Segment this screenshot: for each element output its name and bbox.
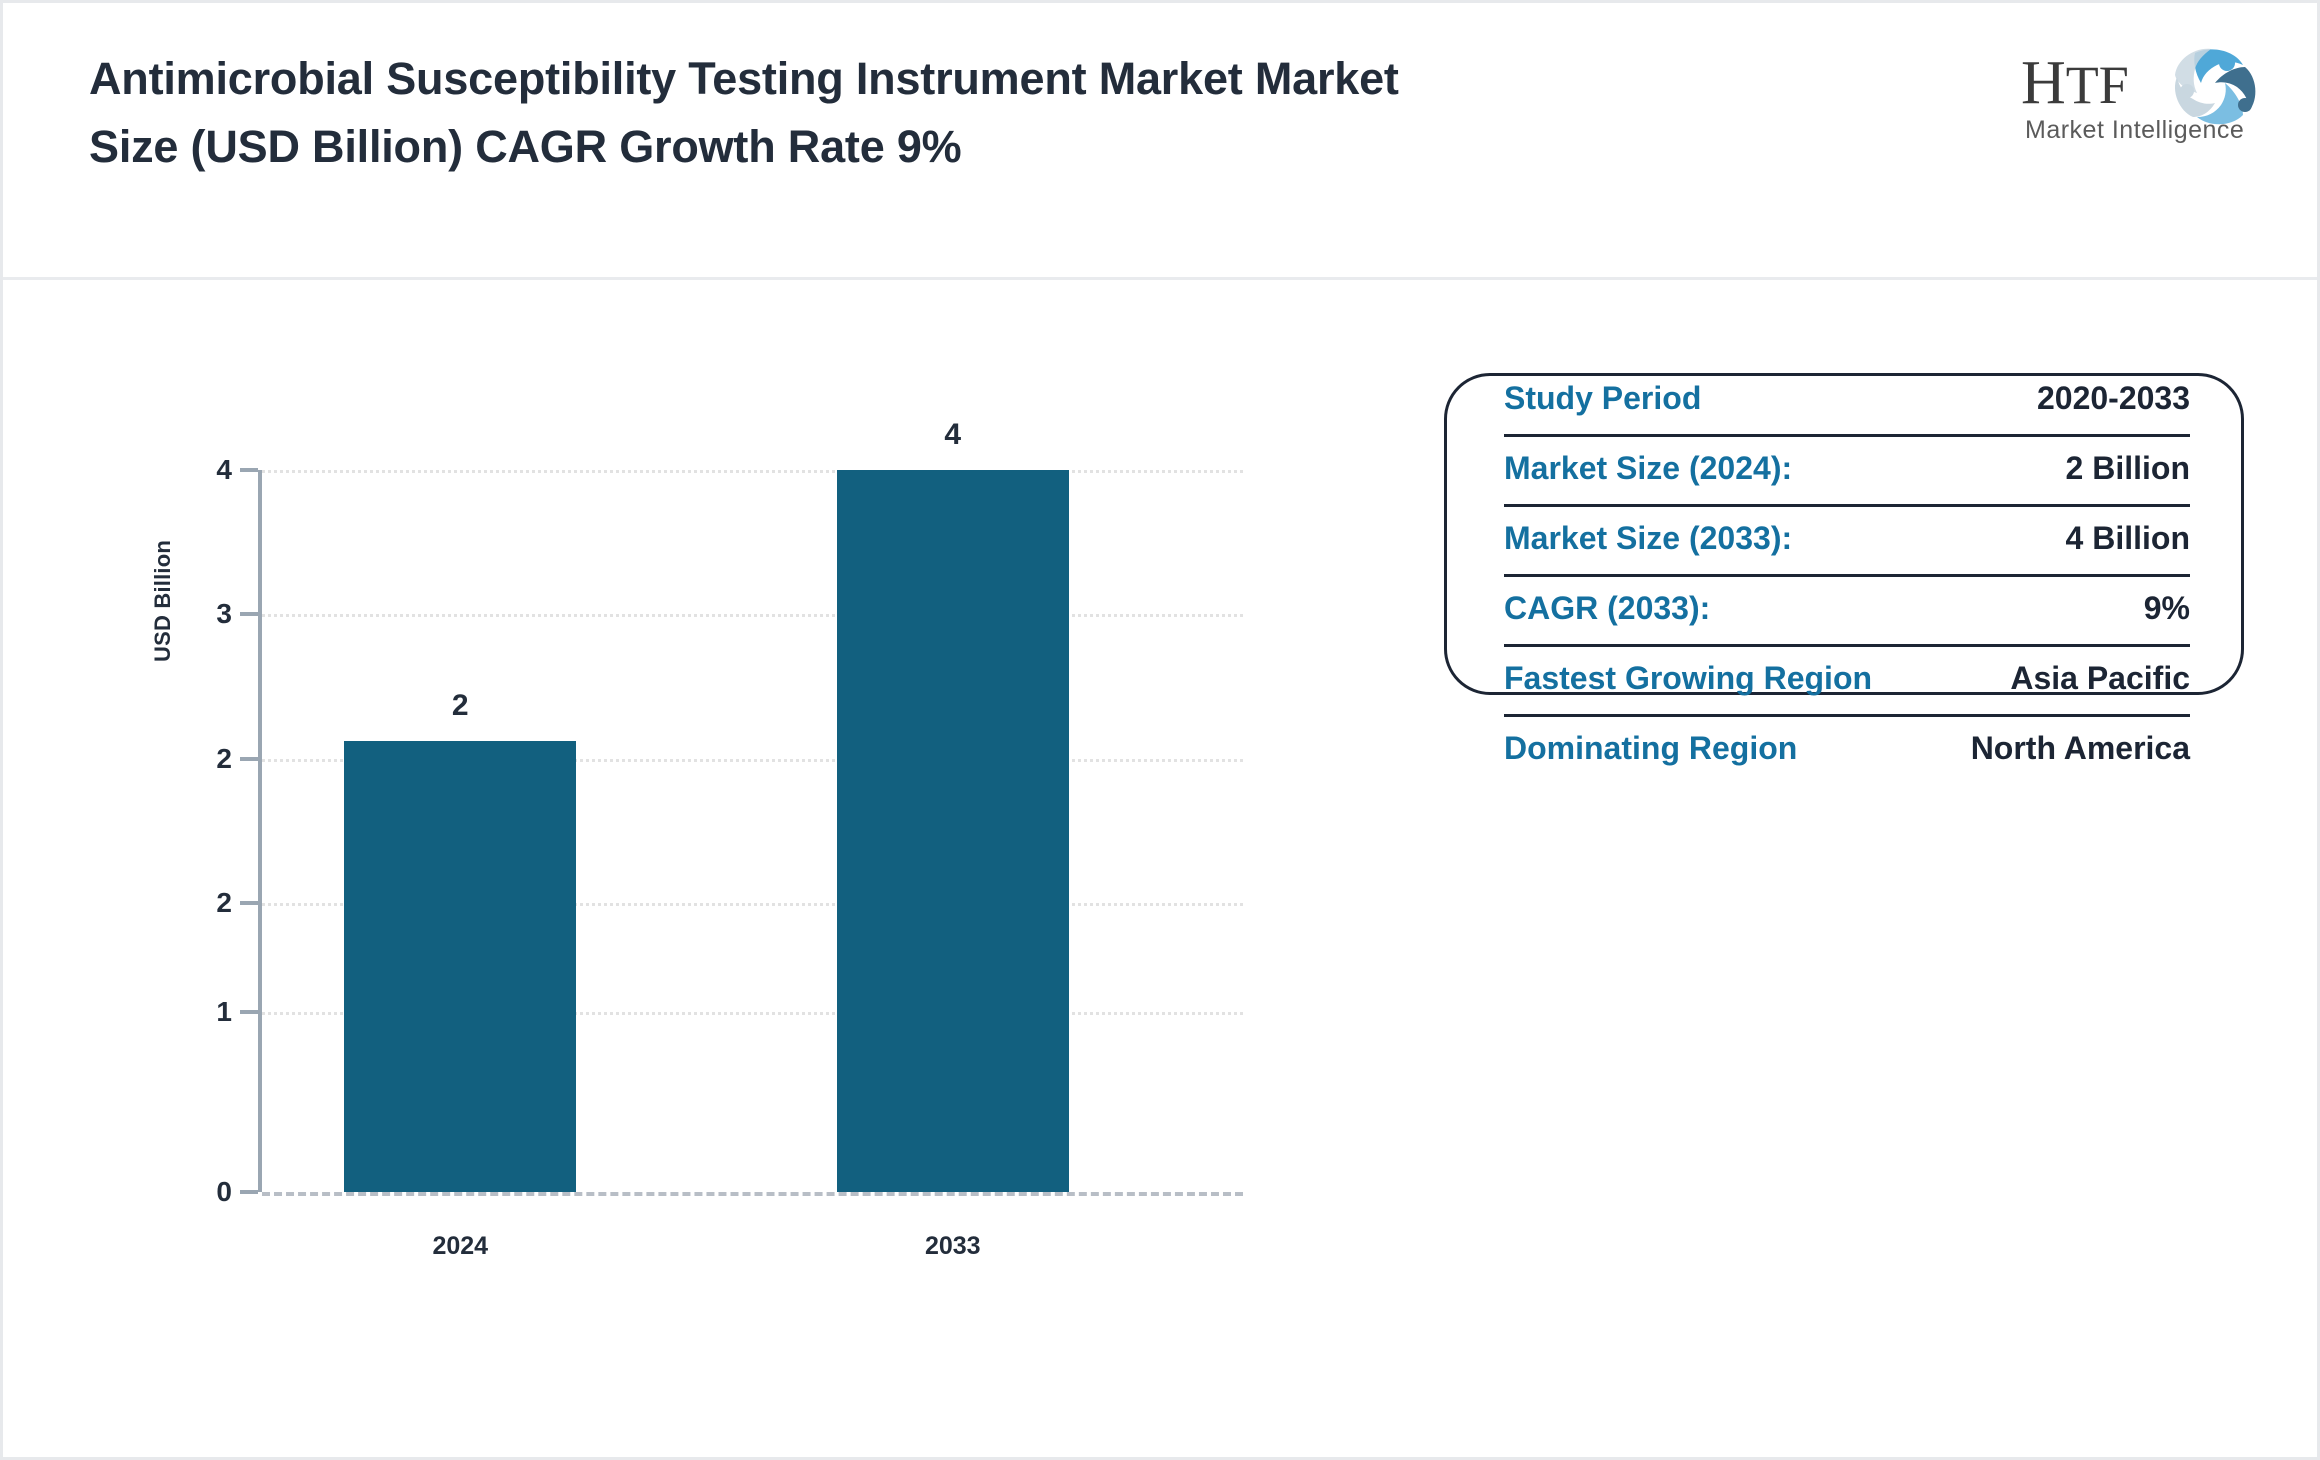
y-axis-spine: [258, 470, 262, 1192]
x-axis-tick-label: 2033: [925, 1232, 981, 1261]
summary-row-value: 9%: [2144, 590, 2190, 627]
page-header: Antimicrobial Susceptibility Testing Ins…: [3, 3, 2320, 280]
market-summary-card: Study Period2020-2033Market Size (2024):…: [1444, 373, 2244, 695]
y-axis-tick: [240, 757, 258, 761]
summary-row: Study Period2020-2033: [1504, 367, 2190, 437]
y-axis-tick: [240, 901, 258, 905]
chart-bar-value-label: 2: [452, 689, 469, 723]
y-axis-tick: [240, 468, 258, 472]
y-axis-label: USD Billion: [150, 481, 176, 721]
summary-row-value: Asia Pacific: [2010, 660, 2190, 697]
header-divider: [3, 277, 2320, 280]
y-axis-tick-label: 1: [194, 996, 232, 1028]
htf-market-intelligence-logo: HTF Market Intelligence HTF Market Intel…: [2013, 41, 2263, 149]
summary-row-label: Market Size (2024):: [1504, 450, 1792, 487]
y-axis-tick: [240, 1010, 258, 1014]
svg-text:HTF: HTF: [2021, 49, 2129, 117]
y-axis-tick: [240, 1190, 258, 1194]
chart-bar[interactable]: [837, 470, 1069, 1192]
y-axis-tick: [240, 612, 258, 616]
market-size-bar-chart: USD Billion 0122342202442033: [103, 303, 1283, 1263]
x-axis-tick-label: 2024: [432, 1232, 488, 1261]
market-summary-rows: Study Period2020-2033Market Size (2024):…: [1504, 367, 2190, 784]
summary-row-label: Market Size (2033):: [1504, 520, 1792, 557]
svg-text:Market Intelligence: Market Intelligence: [2025, 116, 2244, 144]
summary-row: CAGR (2033):9%: [1504, 577, 2190, 647]
summary-row-label: Fastest Growing Region: [1504, 660, 1872, 697]
summary-row-value: 2020-2033: [2037, 380, 2190, 417]
summary-row: Market Size (2024):2 Billion: [1504, 437, 2190, 507]
y-axis-tick-label: 2: [194, 743, 232, 775]
report-infographic-page: Antimicrobial Susceptibility Testing Ins…: [0, 0, 2320, 1460]
summary-row-label: CAGR (2033):: [1504, 590, 1710, 627]
y-axis-tick-label: 2: [194, 887, 232, 919]
chart-gridline: [262, 614, 1243, 617]
summary-row-label: Study Period: [1504, 380, 1701, 417]
page-title: Antimicrobial Susceptibility Testing Ins…: [89, 45, 1449, 181]
chart-gridline: [262, 470, 1243, 473]
summary-row: Fastest Growing RegionAsia Pacific: [1504, 647, 2190, 717]
chart-baseline: [262, 1192, 1243, 1196]
summary-row-value: 2 Billion: [2066, 450, 2190, 487]
summary-row-value: North America: [1971, 730, 2190, 767]
y-axis-tick-label: 4: [194, 454, 232, 486]
y-axis-tick-label: 3: [194, 598, 232, 630]
summary-row: Dominating RegionNorth America: [1504, 717, 2190, 784]
chart-bar[interactable]: [344, 741, 576, 1192]
chart-plot-area: 0122342202442033: [258, 470, 1243, 1192]
summary-row: Market Size (2033):4 Billion: [1504, 507, 2190, 577]
y-axis-tick-label: 0: [194, 1176, 232, 1208]
summary-row-value: 4 Billion: [2066, 520, 2190, 557]
chart-bar-value-label: 4: [944, 418, 961, 452]
summary-row-label: Dominating Region: [1504, 730, 1797, 767]
